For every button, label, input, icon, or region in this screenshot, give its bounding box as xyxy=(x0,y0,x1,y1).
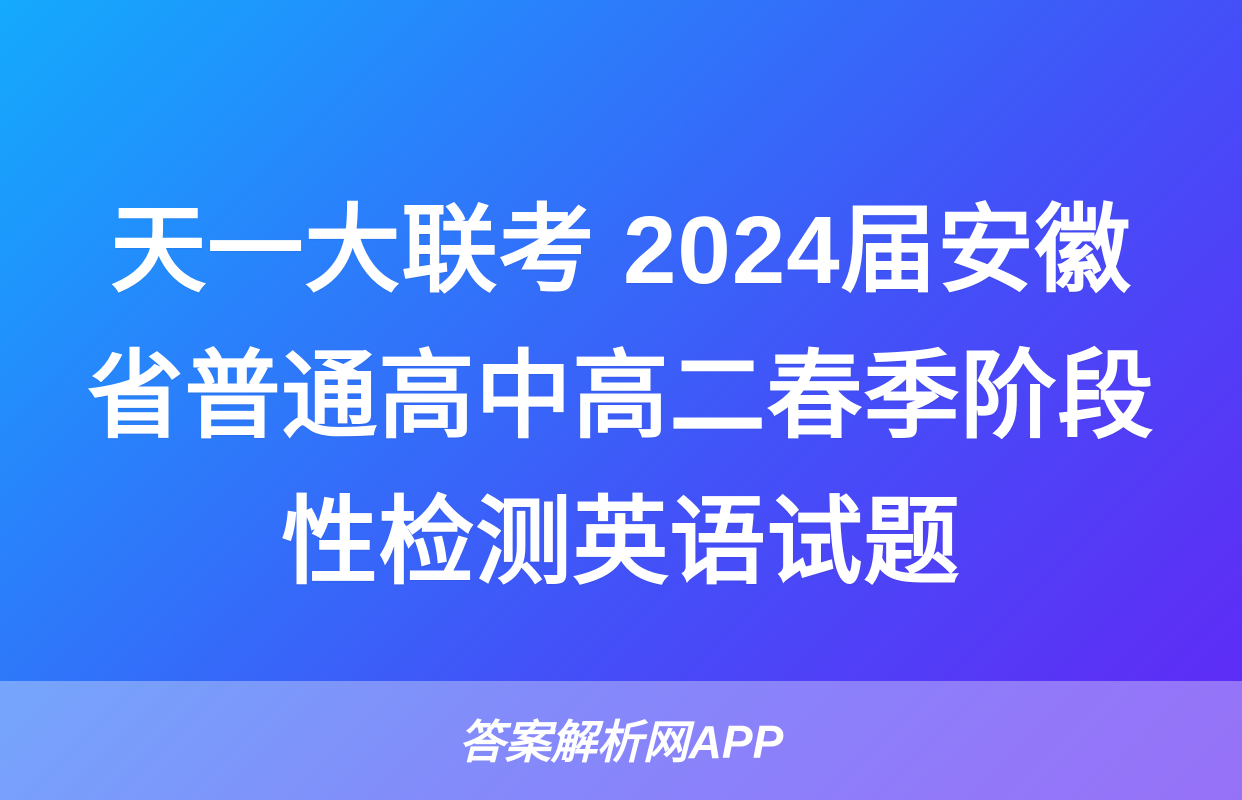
page-title: 天一大联考 2024届安徽 省普通高中高二春季阶段 性检测英语试题 xyxy=(66,178,1176,616)
exam-title-poster: 天一大联考 2024届安徽 省普通高中高二春季阶段 性检测英语试题 答案解析网A… xyxy=(0,0,1242,800)
watermark-band: 答案解析网APP xyxy=(0,681,1242,800)
title-line-2: 省普通高中高二春季阶段 xyxy=(66,324,1176,470)
watermark-app-label: 答案解析网APP xyxy=(459,719,784,765)
title-line-1: 天一大联考 2024届安徽 xyxy=(66,178,1176,324)
title-line-3: 性检测英语试题 xyxy=(66,470,1176,616)
